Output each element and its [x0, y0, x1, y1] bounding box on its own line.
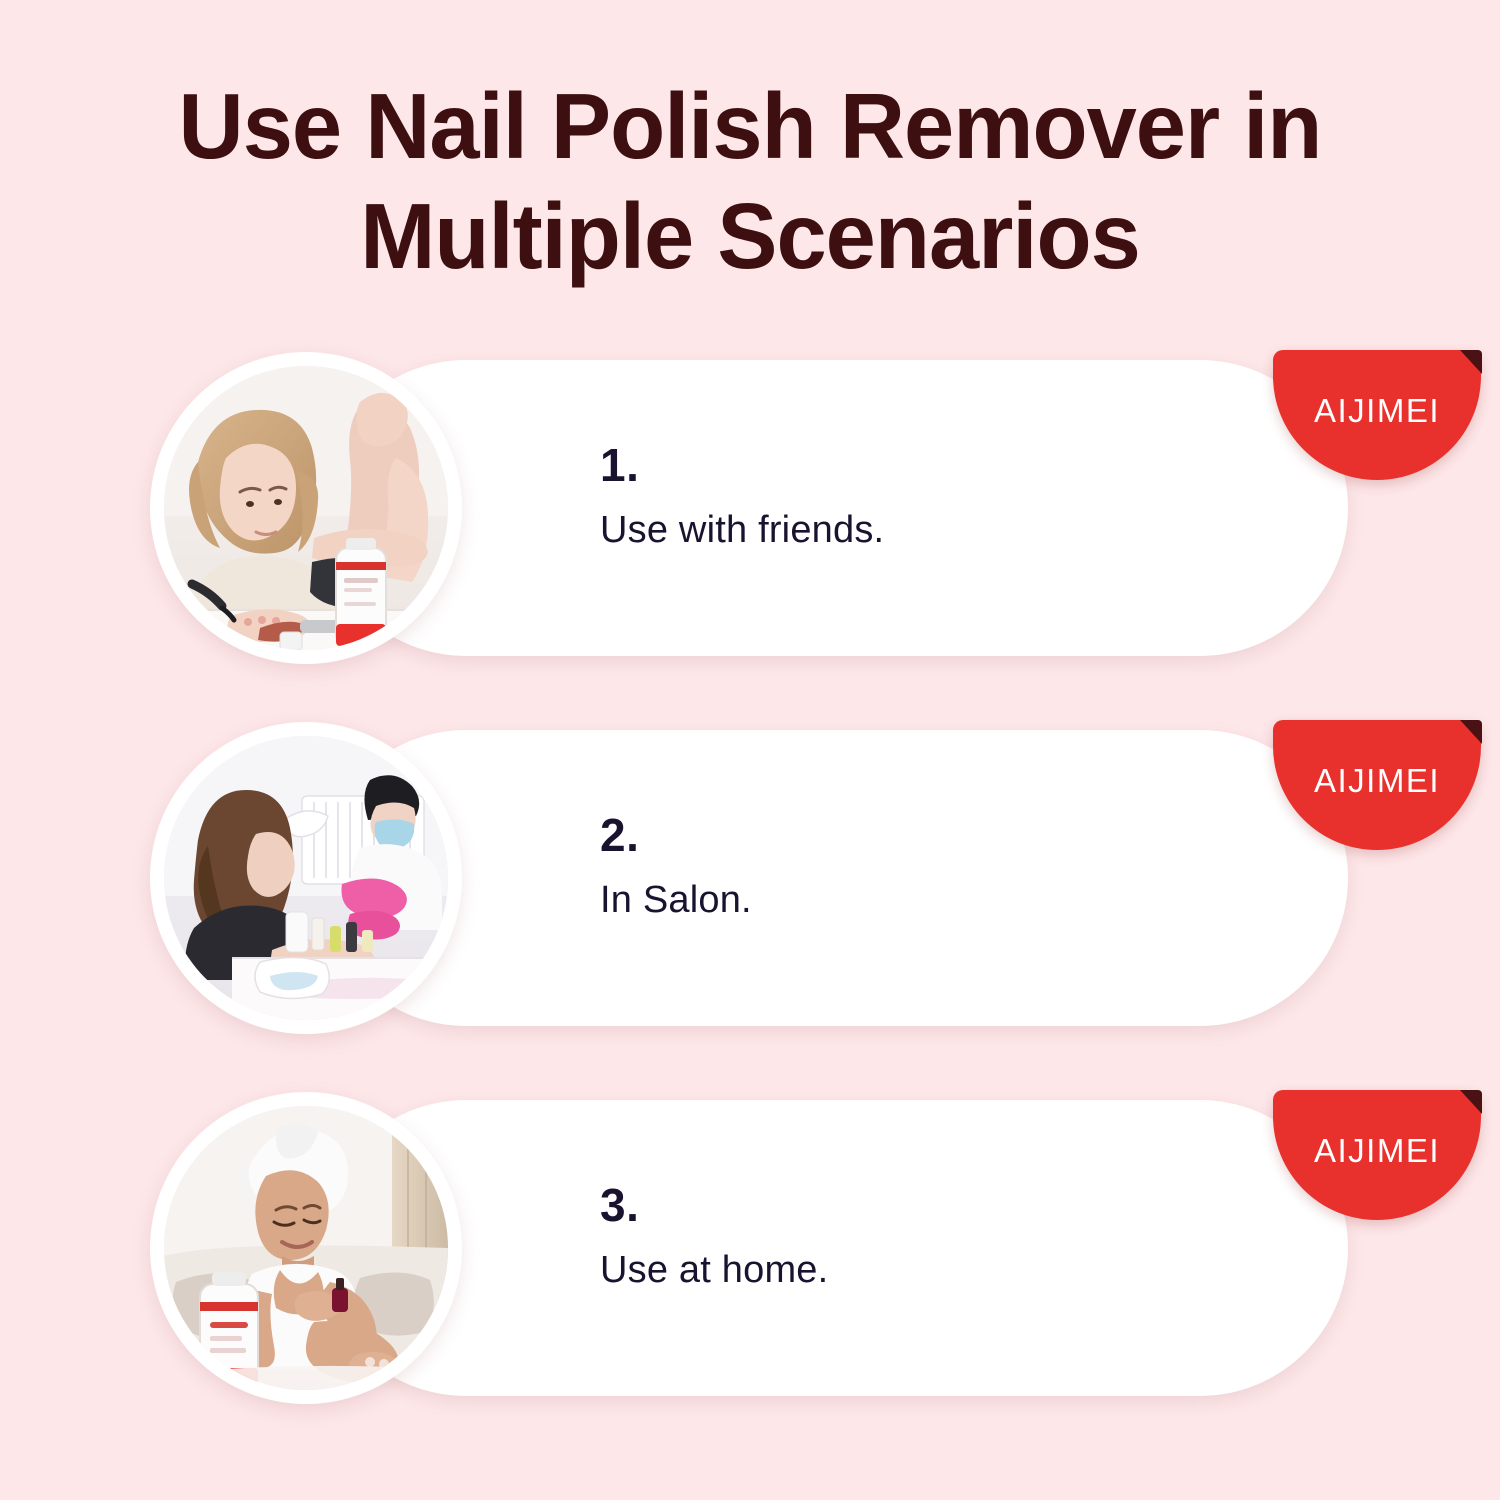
photo-friends-illustration: [164, 366, 448, 650]
page-title: Use Nail Polish Remover in Multiple Scen…: [23, 72, 1478, 291]
brand-badge-2: AIJIMEI: [1273, 720, 1481, 850]
scenario-caption-3: Use at home.: [600, 1250, 1160, 1292]
scenario-item-1: 1. Use with friends. AIJIMEI: [0, 352, 1500, 664]
scenario-text-1: 1. Use with friends.: [600, 442, 1160, 552]
scenario-photo-ring-1: [150, 352, 462, 664]
folded-corner-icon: [1460, 1090, 1482, 1114]
scenario-card-2: 2. In Salon. AIJIMEI: [318, 730, 1348, 1026]
brand-badge-label-3: AIJIMEI: [1273, 1132, 1481, 1170]
photo-home-illustration: [164, 1106, 448, 1390]
scenario-number-1: 1.: [600, 442, 1160, 488]
scenario-text-3: 3. Use at home.: [600, 1182, 1160, 1292]
scenario-photo-3: [164, 1106, 448, 1390]
scenario-card-1: 1. Use with friends. AIJIMEI: [318, 360, 1348, 656]
folded-corner-icon: [1460, 350, 1482, 374]
scenario-list: 1. Use with friends. AIJIMEI: [0, 352, 1500, 1452]
scenario-caption-1: Use with friends.: [600, 510, 1160, 552]
folded-corner-icon: [1460, 720, 1482, 744]
scenario-photo-2: [164, 736, 448, 1020]
brand-badge-1: AIJIMEI: [1273, 350, 1481, 480]
photo-salon-illustration: [164, 736, 448, 1020]
scenario-number-2: 2.: [600, 812, 1160, 858]
page-title-line-1: Use Nail Polish Remover in: [23, 72, 1478, 182]
page-title-line-2: Multiple Scenarios: [23, 182, 1478, 292]
scenario-photo-ring-2: [150, 722, 462, 1034]
brand-badge-label-2: AIJIMEI: [1273, 762, 1481, 800]
scenario-card-3: 3. Use at home. AIJIMEI: [318, 1100, 1348, 1396]
scenario-caption-2: In Salon.: [600, 880, 1160, 922]
brand-badge-3: AIJIMEI: [1273, 1090, 1481, 1220]
scenario-item-3: 3. Use at home. AIJIMEI: [0, 1092, 1500, 1404]
scenario-photo-1: [164, 366, 448, 650]
scenario-text-2: 2. In Salon.: [600, 812, 1160, 922]
brand-badge-label-1: AIJIMEI: [1273, 392, 1481, 430]
scenario-item-2: 2. In Salon. AIJIMEI: [0, 722, 1500, 1034]
scenario-number-3: 3.: [600, 1182, 1160, 1228]
scenario-photo-ring-3: [150, 1092, 462, 1404]
